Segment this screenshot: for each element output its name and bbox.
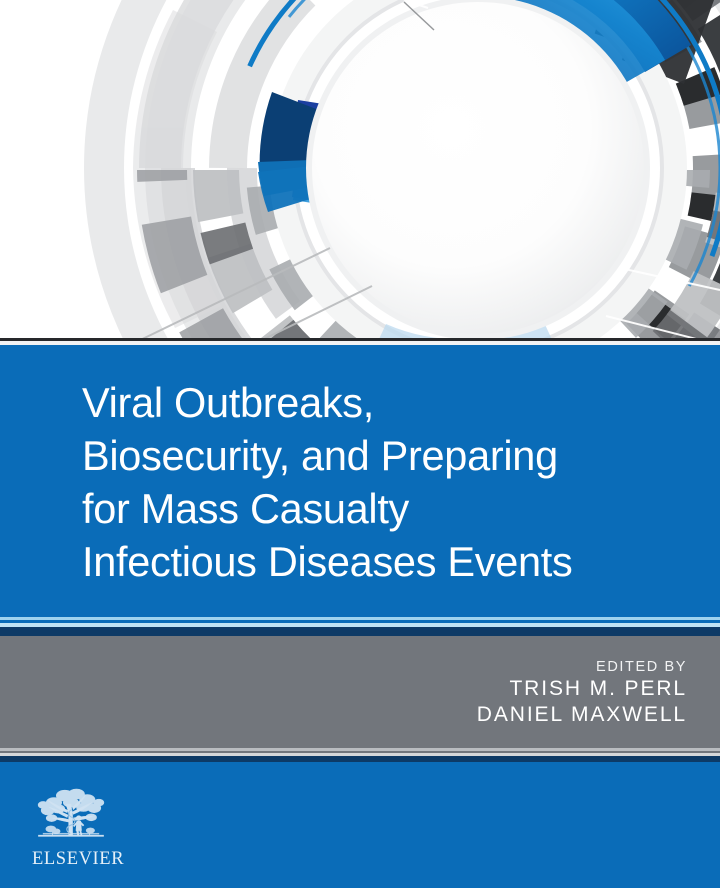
title-line-3: for Mass Casualty <box>82 482 674 535</box>
editor-name-1: TRISH M. PERL <box>0 676 687 702</box>
cover-artwork <box>0 0 720 345</box>
abstract-circle-graphic <box>0 0 720 345</box>
divider-navy <box>0 627 720 636</box>
publisher-band: ELSEVIER <box>0 762 720 888</box>
editors-band: EDITED BY TRISH M. PERL DANIEL MAXWELL <box>0 636 720 748</box>
elsevier-tree-icon <box>32 784 110 846</box>
editor-name-2: DANIEL MAXWELL <box>0 702 687 728</box>
title-line-1: Viral Outbreaks, <box>82 376 674 429</box>
title-band: Viral Outbreaks, Biosecurity, and Prepar… <box>0 345 720 617</box>
book-cover: Viral Outbreaks, Biosecurity, and Prepar… <box>0 0 720 888</box>
elsevier-wordmark: ELSEVIER <box>32 849 110 870</box>
elsevier-logo: ELSEVIER <box>32 784 112 870</box>
edited-by-label: EDITED BY <box>0 658 687 676</box>
title-line-2: Biosecurity, and Preparing <box>82 429 674 482</box>
title-line-4: Infectious Diseases Events <box>82 535 674 588</box>
